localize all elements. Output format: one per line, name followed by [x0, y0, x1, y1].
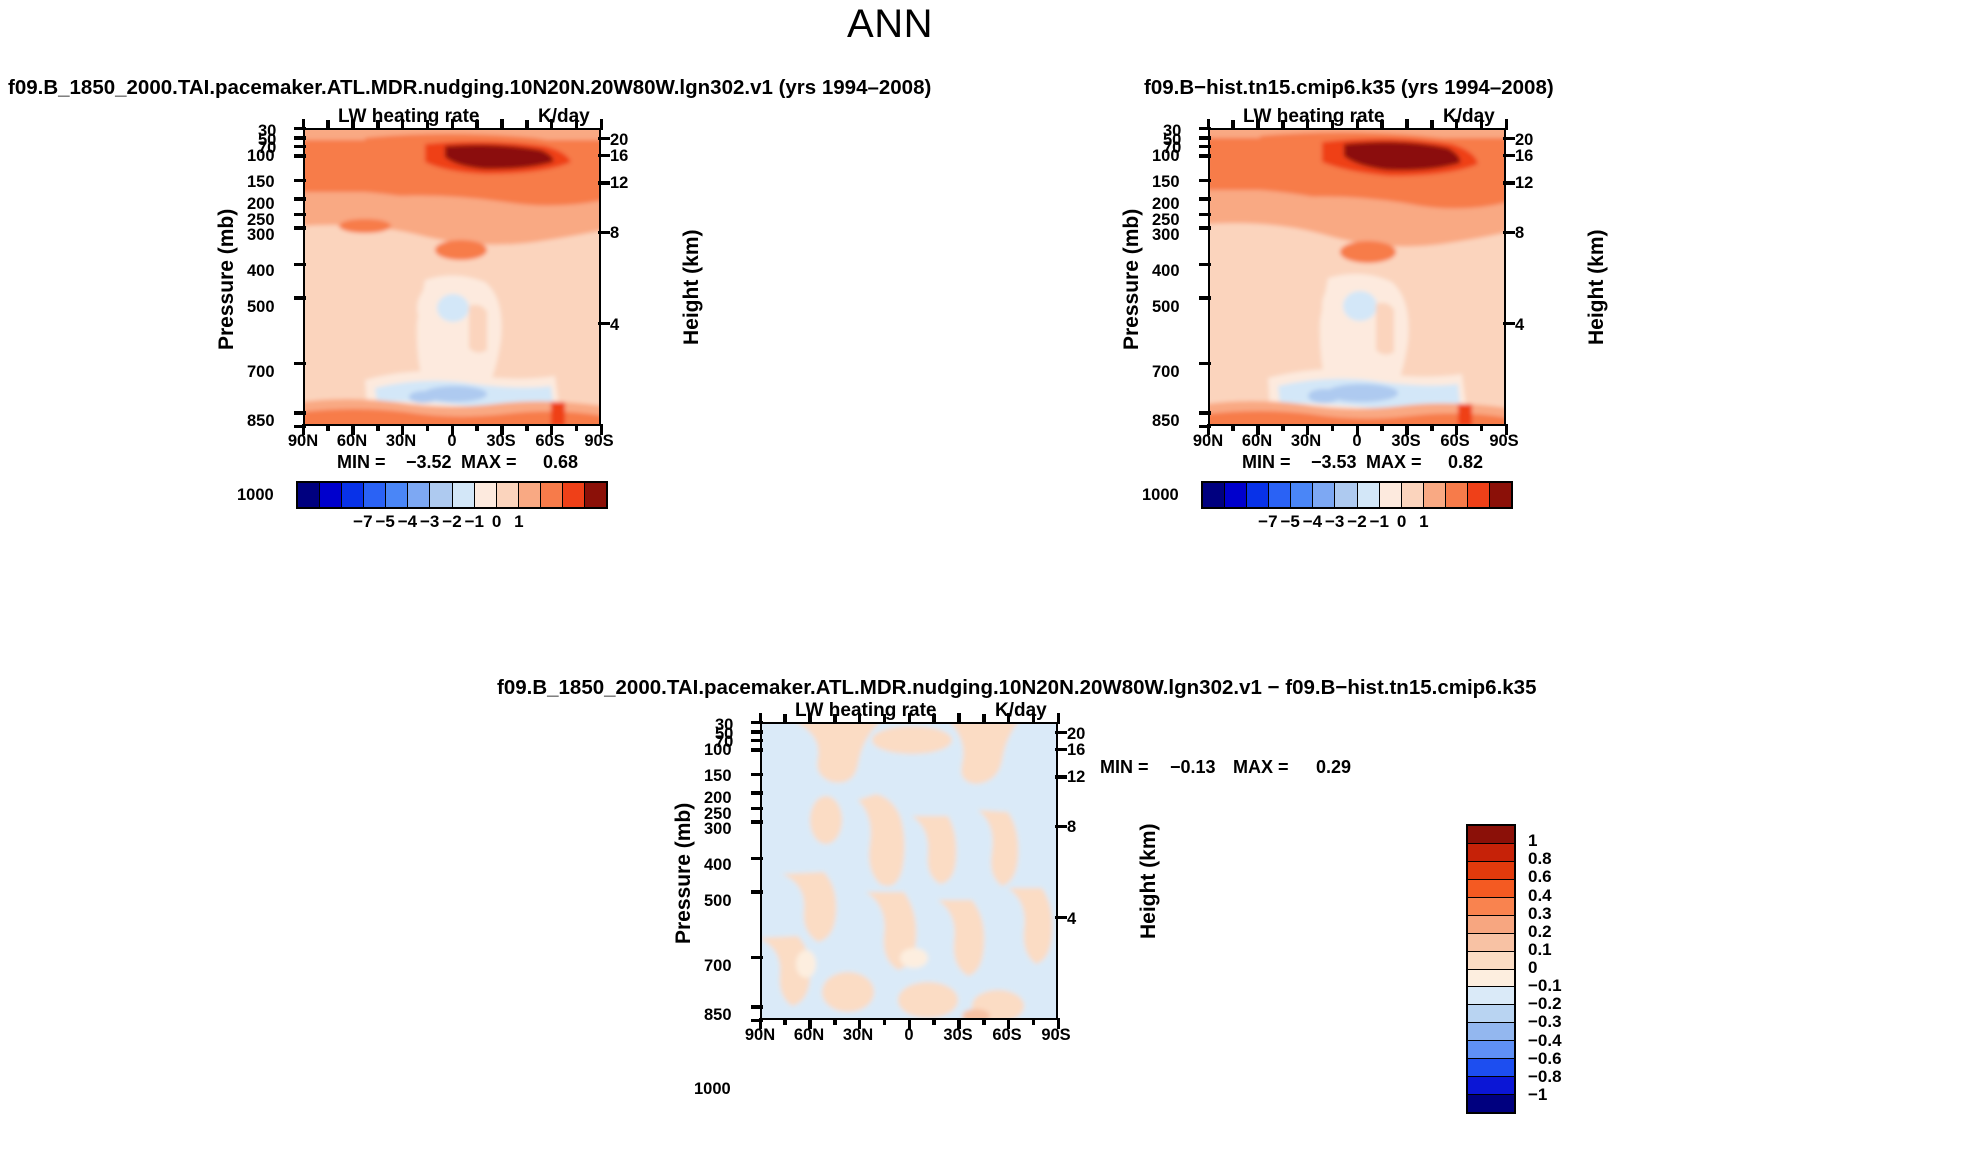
- tick-mark: [1256, 119, 1260, 130]
- tick-mark: [908, 1018, 912, 1029]
- tick-mark: [1455, 424, 1459, 435]
- right-colorbar: [1201, 481, 1513, 509]
- colorbar-tick-label: −0.1: [1528, 976, 1562, 996]
- colorbar-swatch: [1468, 844, 1514, 862]
- left-y2label: Height (km): [680, 230, 704, 346]
- colorbar-swatch: [1468, 880, 1514, 898]
- tick-mark: [451, 119, 455, 130]
- diff-panel-title: f09.B_1850_2000.TAI.pacemaker.ATL.MDR.nu…: [497, 676, 1536, 700]
- tick-mark: [1503, 322, 1515, 326]
- tick-mark: [982, 1018, 986, 1025]
- tick-mark: [426, 120, 430, 129]
- tick-mark: [294, 263, 306, 267]
- left-max-label: MAX =: [461, 452, 517, 473]
- colorbar-tick-label: 0.3: [1528, 904, 1552, 924]
- tick-mark: [1055, 775, 1067, 779]
- colorbar-swatch: [497, 483, 519, 507]
- tick-mark: [1199, 362, 1211, 366]
- tick-mark: [1199, 263, 1211, 267]
- tick-mark: [1199, 213, 1211, 217]
- right-min-value: −3.53: [1311, 452, 1357, 473]
- tick-mark: [575, 424, 579, 431]
- tick-mark: [550, 424, 554, 435]
- colorbar-swatch: [1468, 1077, 1514, 1095]
- tick-mark: [1199, 179, 1211, 183]
- colorbar-tick-label: 0.6: [1528, 867, 1552, 887]
- colorbar-tick-label: −0.2: [1528, 994, 1562, 1014]
- tick-mark: [1503, 137, 1515, 141]
- colorbar-tick-label: 0.4: [1528, 886, 1552, 906]
- tick-mark: [525, 424, 529, 431]
- diff-ylabel: Pressure (mb): [672, 803, 696, 944]
- colorbar-swatch: [1358, 483, 1380, 507]
- tick-mark: [1199, 411, 1211, 415]
- tick-mark: [1505, 119, 1509, 130]
- tick-mark: [302, 424, 306, 435]
- tick-mark: [1032, 1018, 1036, 1025]
- tick-mark: [808, 1018, 812, 1029]
- tick-mark: [294, 145, 306, 149]
- tick-mark: [833, 1018, 837, 1025]
- left-variable-label: LW heating rate: [338, 106, 479, 128]
- colorbar-tick-label: 0.2: [1528, 922, 1552, 942]
- colorbar-tick-label: 1: [1404, 512, 1444, 532]
- tick-mark: [575, 120, 579, 129]
- tick-mark: [500, 424, 504, 435]
- diff-max-label: MAX =: [1233, 757, 1289, 778]
- colorbar-swatch: [1269, 483, 1291, 507]
- tick-mark: [1430, 424, 1434, 431]
- tick-mark: [451, 424, 455, 435]
- right-panel-title: f09.B−hist.tn15.cmip6.k35 (yrs 1994–2008…: [1144, 76, 1554, 100]
- colorbar-swatch: [1402, 483, 1424, 507]
- tick-mark: [294, 213, 306, 217]
- colorbar-swatch: [1490, 483, 1511, 507]
- colorbar-swatch: [1335, 483, 1357, 507]
- tick-mark: [908, 713, 912, 724]
- tick-mark: [1380, 120, 1384, 129]
- tick-mark: [1405, 119, 1409, 130]
- tick-mark: [1199, 145, 1211, 149]
- tick-mark: [1199, 154, 1211, 158]
- tick-mark: [598, 322, 610, 326]
- tick-mark: [1455, 119, 1459, 130]
- tick-mark: [1199, 296, 1211, 300]
- colorbar-swatch: [1468, 1059, 1514, 1077]
- left-ylabel: Pressure (mb): [215, 209, 239, 350]
- diff-contour-plot: [760, 722, 1058, 1020]
- tick-mark: [1199, 226, 1211, 230]
- tick-mark: [1430, 120, 1434, 129]
- colorbar-swatch: [298, 483, 320, 507]
- tick-mark: [475, 424, 479, 431]
- tick-mark: [1199, 136, 1211, 140]
- colorbar-swatch: [1468, 898, 1514, 916]
- colorbar-tick-label: 0.8: [1528, 849, 1552, 869]
- tick-mark: [759, 713, 763, 724]
- tick-mark: [1231, 120, 1235, 129]
- tick-mark: [1281, 424, 1285, 431]
- left-max-value: 0.68: [543, 452, 578, 473]
- colorbar-swatch: [386, 483, 408, 507]
- tick-mark: [351, 119, 355, 130]
- tick-mark: [1505, 424, 1509, 435]
- tick-mark: [598, 231, 610, 235]
- diff-min-value: −0.13: [1170, 757, 1216, 778]
- tick-mark: [326, 424, 330, 431]
- tick-mark: [1057, 1018, 1061, 1029]
- tick-mark: [426, 424, 430, 431]
- tick-mark: [1055, 916, 1067, 920]
- tick-mark: [294, 226, 306, 230]
- tick-mark: [751, 820, 763, 824]
- right-min-label: MIN =: [1242, 452, 1291, 473]
- diff-variable-label: LW heating rate: [795, 700, 936, 722]
- tick-mark: [751, 773, 763, 777]
- tick-mark: [294, 136, 306, 140]
- tick-mark: [1356, 424, 1360, 435]
- tick-mark: [1007, 713, 1011, 724]
- colorbar-swatch: [541, 483, 563, 507]
- left-colorbar: [296, 481, 608, 509]
- tick-mark: [376, 120, 380, 129]
- tick-mark: [500, 119, 504, 130]
- diff-max-value: 0.29: [1316, 757, 1351, 778]
- tick-mark: [294, 179, 306, 183]
- tick-mark: [376, 424, 380, 431]
- tick-mark: [1057, 713, 1061, 724]
- page-title: ANN: [0, 2, 1780, 47]
- colorbar-swatch: [1468, 1005, 1514, 1023]
- colorbar-swatch: [408, 483, 430, 507]
- tick-mark: [1055, 825, 1067, 829]
- tick-mark: [932, 1018, 936, 1025]
- diff-min-label: MIN =: [1100, 757, 1149, 778]
- tick-mark: [1207, 119, 1211, 130]
- tick-mark: [833, 714, 837, 723]
- tick-mark: [1231, 424, 1235, 431]
- colorbar-swatch: [1468, 483, 1490, 507]
- tick-mark: [751, 748, 763, 752]
- right-y2label: Height (km): [1585, 230, 1609, 346]
- colorbar-swatch: [1468, 987, 1514, 1005]
- tick-mark: [1306, 424, 1310, 435]
- tick-mark: [1055, 731, 1067, 735]
- colorbar-swatch: [563, 483, 585, 507]
- colorbar-swatch: [585, 483, 606, 507]
- tick-mark: [858, 1018, 862, 1029]
- colorbar-swatch: [1468, 970, 1514, 988]
- tick-mark: [475, 120, 479, 129]
- colorbar-swatch: [1468, 1023, 1514, 1041]
- diff-units-label: K/day: [995, 700, 1047, 722]
- tick-mark: [1503, 181, 1515, 185]
- tick-mark: [401, 119, 405, 130]
- tick-mark: [294, 197, 306, 201]
- tick-mark: [858, 713, 862, 724]
- tick-mark: [1055, 748, 1067, 752]
- colorbar-swatch: [519, 483, 541, 507]
- right-variable-label: LW heating rate: [1243, 106, 1384, 128]
- left-panel-title: f09.B_1850_2000.TAI.pacemaker.ATL.MDR.nu…: [8, 76, 931, 100]
- tick-mark: [351, 424, 355, 435]
- colorbar-swatch: [364, 483, 386, 507]
- tick-mark: [294, 411, 306, 415]
- tick-mark: [751, 730, 763, 734]
- tick-mark: [600, 119, 604, 130]
- tick-mark: [751, 807, 763, 811]
- colorbar-swatch: [342, 483, 364, 507]
- colorbar-swatch: [1446, 483, 1468, 507]
- tick-mark: [751, 739, 763, 743]
- colorbar-swatch: [1468, 952, 1514, 970]
- tick-mark: [1007, 1018, 1011, 1029]
- colorbar-swatch: [320, 483, 342, 507]
- diff-y2label: Height (km): [1137, 824, 1161, 940]
- colorbar-tick-label: 1: [499, 512, 539, 532]
- left-contour-plot: [303, 128, 601, 426]
- colorbar-tick-label: 1: [1528, 831, 1537, 851]
- tick-mark: [1032, 714, 1036, 723]
- tick-mark: [525, 120, 529, 129]
- right-max-value: 0.82: [1448, 452, 1483, 473]
- tick-mark: [1503, 154, 1515, 158]
- tick-mark: [1199, 197, 1211, 201]
- colorbar-tick-label: −0.8: [1528, 1067, 1562, 1087]
- tick-mark: [957, 1018, 961, 1029]
- colorbar-tick-label: −1: [1528, 1085, 1547, 1105]
- tick-mark: [783, 1018, 787, 1025]
- colorbar-swatch: [1468, 1041, 1514, 1059]
- left-min-value: −3.52: [406, 452, 452, 473]
- tick-mark: [808, 713, 812, 724]
- tick-mark: [751, 791, 763, 795]
- tick-mark: [294, 296, 306, 300]
- tick-mark: [751, 1005, 763, 1009]
- colorbar-swatch: [430, 483, 452, 507]
- tick-mark: [1480, 120, 1484, 129]
- tick-mark: [1380, 424, 1384, 431]
- tick-mark: [1207, 424, 1211, 435]
- colorbar-swatch: [475, 483, 497, 507]
- right-contour-plot: [1208, 128, 1506, 426]
- diff-colorbar: [1466, 824, 1516, 1114]
- right-max-label: MAX =: [1366, 452, 1422, 473]
- tick-mark: [1356, 119, 1360, 130]
- tick-mark: [1281, 120, 1285, 129]
- tick-mark: [783, 714, 787, 723]
- left-min-label: MIN =: [337, 452, 386, 473]
- tick-mark: [302, 119, 306, 130]
- tick-mark: [1256, 424, 1260, 435]
- colorbar-swatch: [1468, 1095, 1514, 1112]
- right-units-label: K/day: [1443, 106, 1495, 128]
- tick-mark: [751, 857, 763, 861]
- colorbar-tick-label: −0.3: [1528, 1012, 1562, 1032]
- colorbar-swatch: [1468, 934, 1514, 952]
- colorbar-swatch: [453, 483, 475, 507]
- tick-mark: [401, 424, 405, 435]
- tick-mark: [957, 713, 961, 724]
- colorbar-swatch: [1313, 483, 1335, 507]
- tick-mark: [759, 1018, 763, 1029]
- colorbar-swatch: [1424, 483, 1446, 507]
- colorbar-tick-label: −0.6: [1528, 1049, 1562, 1069]
- colorbar-swatch: [1380, 483, 1402, 507]
- colorbar-swatch: [1468, 916, 1514, 934]
- tick-mark: [1480, 424, 1484, 431]
- tick-mark: [751, 890, 763, 894]
- right-ylabel: Pressure (mb): [1120, 209, 1144, 350]
- tick-mark: [598, 181, 610, 185]
- colorbar-tick-label: −0.4: [1528, 1031, 1562, 1051]
- colorbar-swatch: [1291, 483, 1313, 507]
- tick-mark: [600, 424, 604, 435]
- tick-mark: [294, 154, 306, 158]
- colorbar-swatch: [1225, 483, 1247, 507]
- tick-mark: [883, 714, 887, 723]
- tick-mark: [1331, 424, 1335, 431]
- colorbar-swatch: [1203, 483, 1225, 507]
- tick-mark: [1331, 120, 1335, 129]
- colorbar-swatch: [1468, 826, 1514, 844]
- tick-mark: [326, 120, 330, 129]
- tick-mark: [598, 154, 610, 158]
- colorbar-swatch: [1247, 483, 1269, 507]
- tick-mark: [1306, 119, 1310, 130]
- left-units-label: K/day: [538, 106, 590, 128]
- colorbar-swatch: [1468, 862, 1514, 880]
- tick-mark: [550, 119, 554, 130]
- colorbar-tick-label: 0.1: [1528, 940, 1552, 960]
- tick-mark: [1405, 424, 1409, 435]
- tick-mark: [883, 1018, 887, 1025]
- tick-mark: [982, 714, 986, 723]
- colorbar-tick-label: 0: [1528, 958, 1537, 978]
- tick-mark: [751, 956, 763, 960]
- tick-mark: [598, 137, 610, 141]
- tick-mark: [294, 362, 306, 366]
- tick-mark: [1503, 231, 1515, 235]
- tick-mark: [932, 714, 936, 723]
